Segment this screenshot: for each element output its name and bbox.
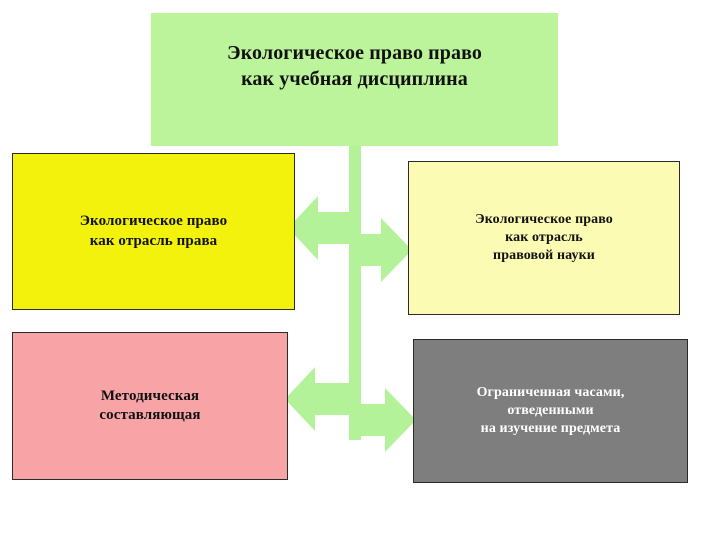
- connector-trunk: [349, 140, 361, 440]
- hours-limited-text: Ограниченная часами, отведенными на изуч…: [477, 384, 625, 438]
- branch-of-law-box: Экологическое право как отрасль права: [12, 153, 295, 310]
- slide-canvas: Экологическое право право как учебная ди…: [0, 0, 720, 540]
- title-text: Экологическое право право как учебная ди…: [227, 41, 482, 92]
- arrow-left-lower-icon: [285, 367, 355, 431]
- arrow-right-lower-icon: [352, 388, 416, 452]
- arrow-left-upper-icon: [288, 196, 355, 260]
- branch-of-law-text: Экологическое право как отрасль права: [80, 212, 227, 250]
- arrow-right-upper-icon: [352, 218, 412, 282]
- methodical-component-text: Методическая составляющая: [99, 387, 200, 425]
- legal-science-text: Экологическое право как отрасль правовой…: [475, 211, 613, 265]
- title-box: Экологическое право право как учебная ди…: [151, 13, 558, 146]
- hours-limited-box: Ограниченная часами, отведенными на изуч…: [413, 339, 688, 483]
- legal-science-box: Экологическое право как отрасль правовой…: [408, 161, 680, 315]
- methodical-component-box: Методическая составляющая: [12, 332, 288, 480]
